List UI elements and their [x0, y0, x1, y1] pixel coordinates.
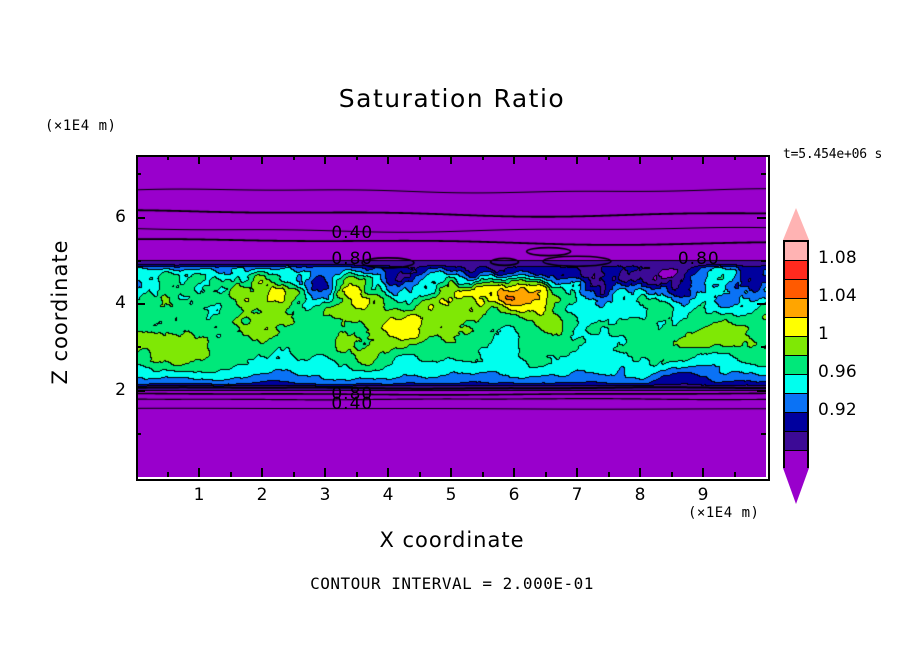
colorbar-label: 1.08 [818, 248, 857, 268]
x-tick-minor [293, 472, 295, 477]
y-tick-minor [136, 433, 141, 435]
colorbar-band [785, 318, 807, 337]
y-tick-label: 6 [96, 207, 126, 227]
x-tick-major [387, 468, 389, 477]
x-tick-major [576, 155, 578, 164]
x-tick-major [261, 468, 263, 477]
contour-label: 0.80 [678, 249, 720, 269]
colorbar-band [785, 356, 807, 375]
colorbar-band [785, 337, 807, 356]
x-tick-minor [167, 155, 169, 160]
x-tick-minor [230, 472, 232, 477]
x-tick-label: 7 [557, 485, 597, 505]
x-tick-major [513, 468, 515, 477]
colorbar-top-arrow [783, 208, 809, 240]
x-tick-minor [293, 155, 295, 160]
page-title: Saturation Ratio [0, 84, 904, 113]
colorbar-label: 1.04 [818, 286, 857, 306]
contour-label: 0.80 [331, 249, 373, 269]
contour-plot-area [136, 155, 766, 477]
y-tick-minor [136, 173, 141, 175]
colorbar-label: 0.96 [818, 362, 857, 382]
x-tick-major [387, 155, 389, 164]
x-tick-major [576, 468, 578, 477]
x-tick-minor [671, 472, 673, 477]
y-tick-minor [136, 260, 141, 262]
colorbar-label: 1 [818, 324, 829, 344]
x-axis-units: (×1E4 m) [688, 505, 759, 521]
colorbar-band [785, 413, 807, 432]
contour-interval-caption: CONTOUR INTERVAL = 2.000E-01 [0, 574, 904, 593]
colorbar [783, 240, 809, 468]
x-tick-minor [356, 155, 358, 160]
x-tick-minor [167, 472, 169, 477]
y-tick-minor [136, 346, 141, 348]
x-tick-label: 1 [179, 485, 219, 505]
y-tick-major [757, 303, 766, 305]
x-tick-minor [356, 472, 358, 477]
colorbar-band [785, 242, 807, 261]
colorbar-label: 0.92 [818, 400, 857, 420]
saturation-ratio-field [136, 155, 766, 477]
y-tick-minor [761, 433, 766, 435]
y-tick-major [136, 303, 145, 305]
x-tick-minor [734, 472, 736, 477]
y-tick-major [757, 390, 766, 392]
x-tick-minor [545, 472, 547, 477]
x-tick-major [324, 468, 326, 477]
y-tick-label: 4 [96, 293, 126, 313]
y-tick-minor [761, 346, 766, 348]
y-tick-major [136, 390, 145, 392]
x-tick-label: 4 [368, 485, 408, 505]
x-tick-major [324, 155, 326, 164]
x-tick-major [198, 155, 200, 164]
colorbar-band [785, 394, 807, 413]
x-tick-minor [545, 155, 547, 160]
x-tick-label: 5 [431, 485, 471, 505]
x-tick-major [639, 155, 641, 164]
x-tick-major [261, 155, 263, 164]
colorbar-band [785, 280, 807, 299]
x-tick-minor [608, 472, 610, 477]
x-tick-major [450, 155, 452, 164]
contour-label: 0.40 [331, 394, 373, 414]
x-tick-major [450, 468, 452, 477]
x-tick-major [198, 468, 200, 477]
x-tick-minor [671, 155, 673, 160]
x-tick-label: 9 [683, 485, 723, 505]
y-tick-major [136, 217, 145, 219]
colorbar-band [785, 375, 807, 394]
y-tick-minor [761, 173, 766, 175]
x-tick-major [513, 155, 515, 164]
x-tick-minor [482, 155, 484, 160]
x-tick-label: 6 [494, 485, 534, 505]
x-tick-label: 2 [242, 485, 282, 505]
y-tick-label: 2 [96, 380, 126, 400]
x-tick-minor [419, 472, 421, 477]
y-axis-title: Z coordinate [48, 192, 72, 432]
x-tick-label: 3 [305, 485, 345, 505]
x-axis-title: X coordinate [0, 528, 904, 552]
timestamp-label: t=5.454e+06 s [783, 147, 882, 162]
x-tick-label: 8 [620, 485, 660, 505]
x-tick-minor [482, 472, 484, 477]
x-tick-minor [734, 155, 736, 160]
x-tick-minor [419, 155, 421, 160]
y-tick-minor [761, 260, 766, 262]
colorbar-band [785, 261, 807, 280]
x-tick-major [639, 468, 641, 477]
y-tick-major [757, 217, 766, 219]
colorbar-band [785, 432, 807, 451]
x-tick-minor [608, 155, 610, 160]
colorbar-band [785, 299, 807, 318]
x-tick-major [702, 155, 704, 164]
colorbar-bottom-arrow [783, 468, 809, 504]
x-tick-major [702, 468, 704, 477]
x-tick-minor [230, 155, 232, 160]
y-axis-units: (×1E4 m) [45, 118, 116, 134]
contour-label: 0.40 [331, 223, 373, 243]
